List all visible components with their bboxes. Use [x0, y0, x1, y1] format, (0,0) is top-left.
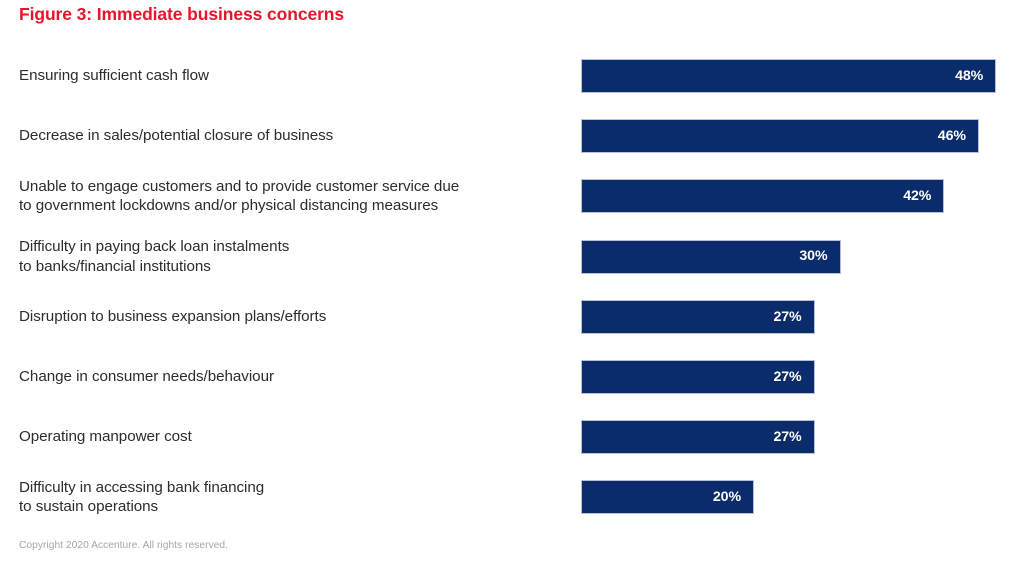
chart-row: Unable to engage customers and to provid…: [0, 179, 1024, 239]
chart-row: Change in consumer needs/behaviour27%: [0, 360, 1024, 420]
bar[interactable]: 20%: [581, 480, 754, 514]
bar[interactable]: 48%: [581, 59, 996, 93]
copyright-notice: Copyright 2020 Accenture. All rights res…: [19, 540, 228, 551]
bar-track: 42%: [581, 179, 1011, 213]
bar-category-label-line: Operating manpower cost: [19, 427, 564, 447]
bar-category-label: Decrease in sales/potential closure of b…: [19, 119, 564, 153]
bar-category-label-line: Decrease in sales/potential closure of b…: [19, 126, 564, 146]
bar-track: 20%: [581, 480, 1011, 514]
bar-category-label-line: Ensuring sufficient cash flow: [19, 66, 564, 86]
bar-track: 27%: [581, 420, 1011, 454]
bar-category-label: Operating manpower cost: [19, 420, 564, 454]
bar-category-label-line: Unable to engage customers and to provid…: [19, 177, 564, 197]
bar-track: 48%: [581, 59, 1011, 93]
bar-value-label: 42%: [903, 189, 943, 203]
bar-track: 27%: [581, 360, 1011, 394]
bar-value-label: 46%: [938, 129, 978, 143]
bar-category-label-line: to sustain operations: [19, 497, 564, 517]
bar-value-label: 27%: [773, 370, 813, 384]
bar-track: 46%: [581, 119, 1011, 153]
bar[interactable]: 30%: [581, 240, 841, 274]
bar-chart: Ensuring sufficient cash flow48%Decrease…: [0, 59, 1024, 541]
bar-value-label: 30%: [799, 249, 839, 263]
chart-row: Decrease in sales/potential closure of b…: [0, 119, 1024, 179]
bar-category-label-line: to government lockdowns and/or physical …: [19, 196, 564, 216]
bar-category-label-line: to banks/financial institutions: [19, 257, 564, 277]
bar-category-label-line: Difficulty in paying back loan instalmen…: [19, 237, 564, 257]
chart-row: Difficulty in paying back loan instalmen…: [0, 240, 1024, 300]
chart-row: Ensuring sufficient cash flow48%: [0, 59, 1024, 119]
bar-value-label: 27%: [773, 310, 813, 324]
chart-row: Operating manpower cost27%: [0, 420, 1024, 480]
bar-category-label: Disruption to business expansion plans/e…: [19, 300, 564, 334]
bar[interactable]: 27%: [581, 420, 815, 454]
bar-track: 27%: [581, 300, 1011, 334]
bar-value-label: 20%: [713, 490, 753, 504]
chart-row: Disruption to business expansion plans/e…: [0, 300, 1024, 360]
bar-category-label: Difficulty in accessing bank financingto…: [19, 480, 564, 514]
bar-value-label: 48%: [955, 69, 995, 83]
bar[interactable]: 27%: [581, 300, 815, 334]
bar-category-label: Change in consumer needs/behaviour: [19, 360, 564, 394]
bar-category-label: Unable to engage customers and to provid…: [19, 179, 564, 213]
bar-category-label-line: Disruption to business expansion plans/e…: [19, 307, 564, 327]
bar[interactable]: 42%: [581, 179, 944, 213]
bar-track: 30%: [581, 240, 1011, 274]
bar-category-label-line: Change in consumer needs/behaviour: [19, 367, 564, 387]
bar[interactable]: 46%: [581, 119, 979, 153]
bar-value-label: 27%: [773, 430, 813, 444]
page-title: Figure 3: Immediate business concerns: [19, 4, 344, 25]
bar[interactable]: 27%: [581, 360, 815, 394]
bar-category-label: Ensuring sufficient cash flow: [19, 59, 564, 93]
chart-row: Difficulty in accessing bank financingto…: [0, 480, 1024, 540]
bar-category-label: Difficulty in paying back loan instalmen…: [19, 240, 564, 274]
figure-container: Figure 3: Immediate business concerns En…: [0, 0, 1024, 576]
bar-category-label-line: Difficulty in accessing bank financing: [19, 478, 564, 498]
